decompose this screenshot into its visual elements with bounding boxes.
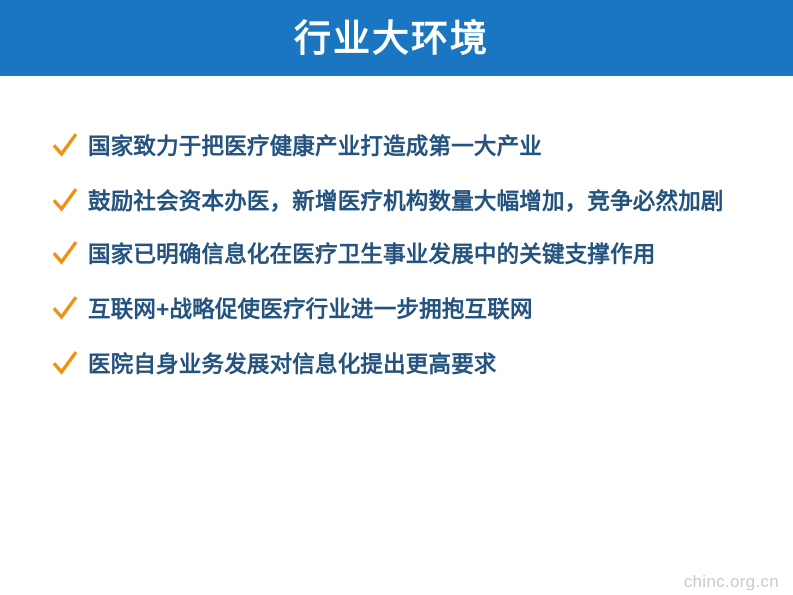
check-icon [52, 349, 78, 379]
watermark: chinc.org.cn [684, 572, 779, 592]
list-item-label: 鼓励社会资本办医，新增医疗机构数量大幅增加，竞争必然加剧 [88, 186, 724, 217]
check-icon [52, 186, 78, 216]
check-icon [52, 239, 78, 269]
list-item: 国家已明确信息化在医疗卫生事业发展中的关键支撑作用 [52, 239, 770, 270]
check-icon [52, 294, 78, 324]
list-item: 互联网+战略促使医疗行业进一步拥抱互联网 [52, 294, 770, 325]
check-icon [52, 131, 78, 161]
list-item-label: 国家已明确信息化在医疗卫生事业发展中的关键支撑作用 [88, 239, 656, 270]
page-title: 行业大环境 [0, 0, 793, 76]
title-banner: 行业大环境 [0, 0, 793, 76]
list-item: 鼓励社会资本办医，新增医疗机构数量大幅增加，竞争必然加剧 [52, 186, 770, 217]
list-item: 医院自身业务发展对信息化提出更高要求 [52, 349, 770, 380]
list-item-label: 医院自身业务发展对信息化提出更高要求 [88, 349, 497, 380]
list-item-label: 互联网+战略促使医疗行业进一步拥抱互联网 [88, 294, 533, 325]
list-item-label: 国家致力于把医疗健康产业打造成第一大产业 [88, 131, 542, 162]
list-item: 国家致力于把医疗健康产业打造成第一大产业 [52, 131, 770, 162]
slide-canvas: 行业大环境 国家致力于把医疗健康产业打造成第一大产业 鼓励社会资本办医，新增医疗… [0, 0, 793, 595]
bullet-list: 国家致力于把医疗健康产业打造成第一大产业 鼓励社会资本办医，新增医疗机构数量大幅… [52, 131, 770, 404]
